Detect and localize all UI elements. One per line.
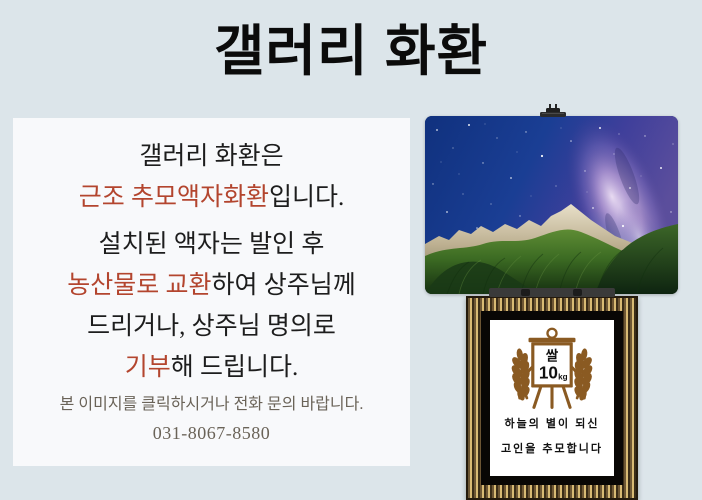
page-title: 갤러리 화환 [0, 16, 702, 86]
message-line-5-text: 드리거나, 상주님 명의로 [87, 313, 336, 340]
frame-mat: 쌀 10 kg 하늘의 별이 되신 고인을 추모합니다 [481, 311, 623, 485]
message-line-1-text: 갤러리 화환은 [139, 143, 283, 170]
rice-emblem-icon: 쌀 10 kg [496, 326, 608, 416]
message-line-4-text: 하여 상주님께 [212, 272, 356, 299]
message-line-1: 갤러리 화환은 [13, 136, 410, 177]
photo-hanger-icon [540, 104, 566, 118]
message-line-2-highlight: 근조 추모액자화환 [79, 184, 269, 211]
message-line-6-highlight: 기부 [125, 354, 171, 381]
emblem-product-label: 쌀 [546, 347, 559, 363]
message-line-2-text: 입니다. [269, 184, 344, 211]
night-sky-photo[interactable] [425, 116, 678, 294]
condolence-line-1: 하늘의 별이 되신 [490, 412, 614, 437]
condolence-text: 하늘의 별이 되신 고인을 추모합니다 [490, 412, 614, 462]
message-line-6: 기부해 드립니다. [13, 347, 410, 388]
message-panel: 갤러리 화환은 근조 추모액자화환입니다. 설치된 액자는 발인 후 농산물로 … [13, 118, 410, 466]
condolence-line-2: 고인을 추모합니다 [490, 437, 614, 462]
message-line-2: 근조 추모액자화환입니다. [13, 177, 410, 218]
contact-block: 본 이미지를 클릭하시거나 전화 문의 바랍니다. 031-8067-8580 [13, 390, 410, 448]
banner-canvas: 갤러리 화환 갤러리 화환은 근조 추모액자화환입니다. 설치된 액자는 발인 … [0, 0, 702, 500]
message-line-6-text: 해 드립니다. [171, 354, 299, 381]
message-block-primary: 갤러리 화환은 근조 추모액자화환입니다. [13, 136, 410, 218]
emblem-weight-value: 10 [539, 362, 558, 382]
memorial-frame[interactable]: 쌀 10 kg 하늘의 별이 되신 고인을 추모합니다 [466, 296, 638, 500]
message-line-5: 드리거나, 상주님 명의로 [13, 306, 410, 347]
emblem-weight-unit: kg [558, 372, 568, 381]
contact-phone-number[interactable]: 031-8067-8580 [13, 419, 410, 448]
message-line-3-text: 설치된 액자는 발인 후 [99, 231, 325, 258]
contact-instruction: 본 이미지를 클릭하시거나 전화 문의 바랍니다. [13, 390, 410, 419]
message-line-4: 농산물로 교환하여 상주님께 [13, 265, 410, 306]
message-block-secondary: 설치된 액자는 발인 후 농산물로 교환하여 상주님께 드리거나, 상주님 명의… [13, 224, 410, 388]
message-line-3: 설치된 액자는 발인 후 [13, 224, 410, 265]
certificate-card: 쌀 10 kg 하늘의 별이 되신 고인을 추모합니다 [490, 320, 614, 476]
frame-hanger-icon [489, 288, 615, 297]
message-line-4-highlight: 농산물로 교환 [67, 272, 211, 299]
